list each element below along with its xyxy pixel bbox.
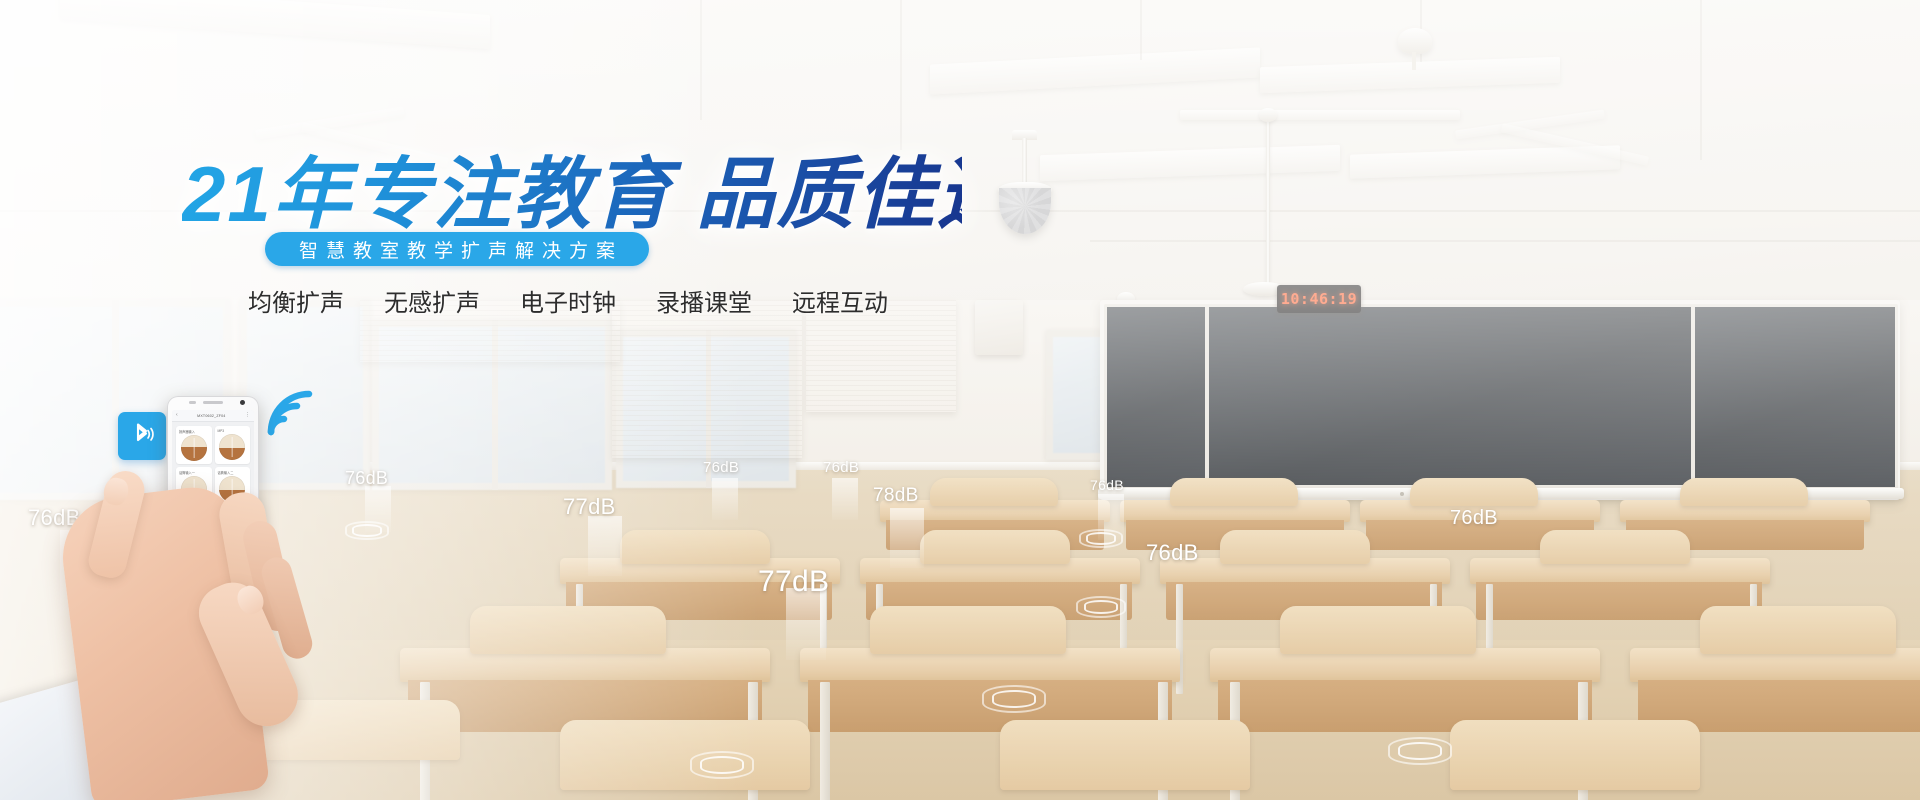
window-mullion: [112, 300, 119, 500]
page-title: 21年专注教育 品质佳选: [182, 152, 962, 238]
subtitle-pill: 智慧教室教学扩声解决方案: [265, 232, 649, 266]
volume-knob[interactable]: [219, 434, 245, 460]
window: [1046, 330, 1108, 460]
chair: [1450, 720, 1700, 790]
phone-camera: [240, 400, 245, 405]
knob-card-label: MP3: [218, 429, 248, 433]
chair: [1170, 478, 1298, 506]
chair: [1220, 530, 1370, 564]
desk-leg: [820, 682, 830, 800]
sound-ring-icon: [690, 751, 754, 779]
volume-knob[interactable]: [181, 435, 207, 461]
chevron-left-icon[interactable]: ‹: [176, 413, 178, 418]
db-beam: [832, 478, 858, 520]
ceiling-seam: [700, 0, 702, 120]
knob-card-label: 话筒输入二: [218, 470, 248, 475]
chair: [870, 606, 1066, 654]
chair: [230, 700, 460, 760]
feature-list: 均衡扩声 无感扩声 电子时钟 录播课堂 远程互动: [248, 283, 888, 318]
db-marker: 76dB: [703, 459, 739, 476]
knob-card[interactable]: 话筒输入二: [215, 467, 251, 505]
sound-ring-icon: [345, 521, 389, 540]
blackboard-right-panel: [1692, 304, 1898, 490]
db-marker: 76dB: [1090, 477, 1124, 493]
scene-label: 场景: [218, 538, 224, 543]
master-volume-card[interactable]: 总音量 +: [176, 509, 250, 531]
wifi-waves-icon: [265, 388, 317, 438]
master-volume-slider[interactable]: [179, 519, 247, 528]
feature-item-4: 录播课堂: [656, 283, 752, 318]
bluetooth-badge: [118, 412, 166, 460]
volume-knob[interactable]: [181, 476, 207, 502]
bluetooth-icon: [127, 421, 157, 451]
chair: [920, 530, 1070, 564]
mute-toggle-label: 静音开关: [179, 538, 192, 543]
app-titlebar: ‹ MXT0602_ZF04 ⋮: [172, 410, 254, 422]
db-marker: 77dB: [563, 494, 616, 520]
app-title: MXT0602_ZF04: [197, 414, 225, 418]
db-beam: [60, 530, 106, 616]
ceiling-sensor-rod: [1412, 52, 1416, 70]
db-beam: [712, 478, 738, 520]
sound-ring-icon: [1388, 737, 1452, 765]
feature-item-1: 均衡扩声: [248, 283, 344, 318]
db-beam: [890, 508, 924, 568]
pendant-speaker-rod: [1022, 138, 1027, 184]
chair: [1680, 478, 1808, 506]
ceiling-seam: [1090, 240, 1920, 242]
digital-clock: 10:46:19: [1277, 285, 1361, 313]
db-marker: 77dB: [758, 565, 829, 599]
mute-toggle[interactable]: [198, 537, 209, 543]
chair: [470, 606, 666, 654]
mic-pole-head: [1259, 108, 1277, 122]
sound-ring-icon: [982, 685, 1046, 713]
knob-card-label: 话筒输入一: [179, 470, 209, 475]
db-marker: 76dB: [823, 459, 859, 476]
db-marker: 78dB: [873, 485, 919, 507]
app-bottom-row: 静音开关 场景: [172, 534, 254, 550]
slider-fill: [179, 519, 228, 528]
window-blind: [612, 300, 802, 458]
feature-item-3: 电子时钟: [520, 283, 616, 318]
subtitle-pill-label: 智慧教室教学扩声解决方案: [291, 236, 623, 263]
master-volume-header: 总音量 +: [179, 512, 247, 517]
blackboard-left-panel: [1104, 304, 1208, 490]
chair: [1280, 606, 1476, 654]
chair: [1540, 530, 1690, 564]
slider-handle[interactable]: [224, 518, 235, 529]
chair: [560, 720, 810, 790]
sound-ring-icon: [1076, 596, 1126, 618]
knob-card[interactable]: 话筒输入一: [176, 467, 212, 505]
interactive-display: [1206, 304, 1694, 488]
chair: [1700, 606, 1896, 654]
feature-item-5: 远程互动: [792, 283, 888, 318]
chair: [1000, 720, 1250, 790]
ceiling-sensor-icon: [1398, 28, 1432, 54]
db-marker: 76dB: [1146, 540, 1199, 566]
smartphone: ‹ MXT0602_ZF04 ⋮ 扬声器输入 MP3 话筒输入一: [167, 396, 259, 646]
plus-icon[interactable]: +: [244, 512, 247, 517]
knob-card[interactable]: MP3: [215, 426, 251, 464]
mute-toggle-card[interactable]: 静音开关: [176, 534, 212, 546]
knob-card[interactable]: 扬声器输入: [176, 426, 212, 464]
knob-card-label: 扬声器输入: [179, 429, 209, 434]
tray-control-dot: [1400, 492, 1404, 496]
chair: [1410, 478, 1538, 506]
master-volume-label: 总音量: [179, 512, 189, 517]
feature-item-2: 无感扩声: [384, 283, 480, 318]
scene-card[interactable]: 场景: [215, 534, 251, 546]
db-marker: 76dB: [345, 468, 388, 489]
ceiling-seam: [1700, 0, 1702, 160]
chair: [620, 530, 770, 564]
volume-knob[interactable]: [219, 476, 245, 502]
phone-sensor: [189, 401, 196, 404]
knob-card-grid: 扬声器输入 MP3 话筒输入一 话筒输入二: [172, 422, 254, 509]
db-marker: 76dB: [1450, 507, 1498, 530]
wall-speaker-box: [975, 300, 1023, 355]
mic-pole: [1266, 116, 1270, 286]
digital-clock-time: 10:46:19: [1281, 290, 1357, 308]
db-beam: [588, 516, 622, 576]
phone-screen[interactable]: ‹ MXT0602_ZF04 ⋮ 扬声器输入 MP3 话筒输入一: [172, 410, 254, 638]
ceiling-seam: [900, 0, 902, 150]
hero-banner: 10:46:19: [0, 0, 1920, 800]
ceiling-beam: [1180, 110, 1460, 120]
db-marker: 76dB: [28, 505, 81, 531]
ceiling-seam: [1140, 0, 1142, 60]
phone-earpiece: [203, 401, 223, 404]
sound-ring-icon: [1079, 529, 1123, 548]
headline-block: 21年专注教育 品质佳选: [182, 152, 962, 238]
chair: [930, 478, 1058, 506]
more-vertical-icon[interactable]: ⋮: [245, 413, 250, 418]
